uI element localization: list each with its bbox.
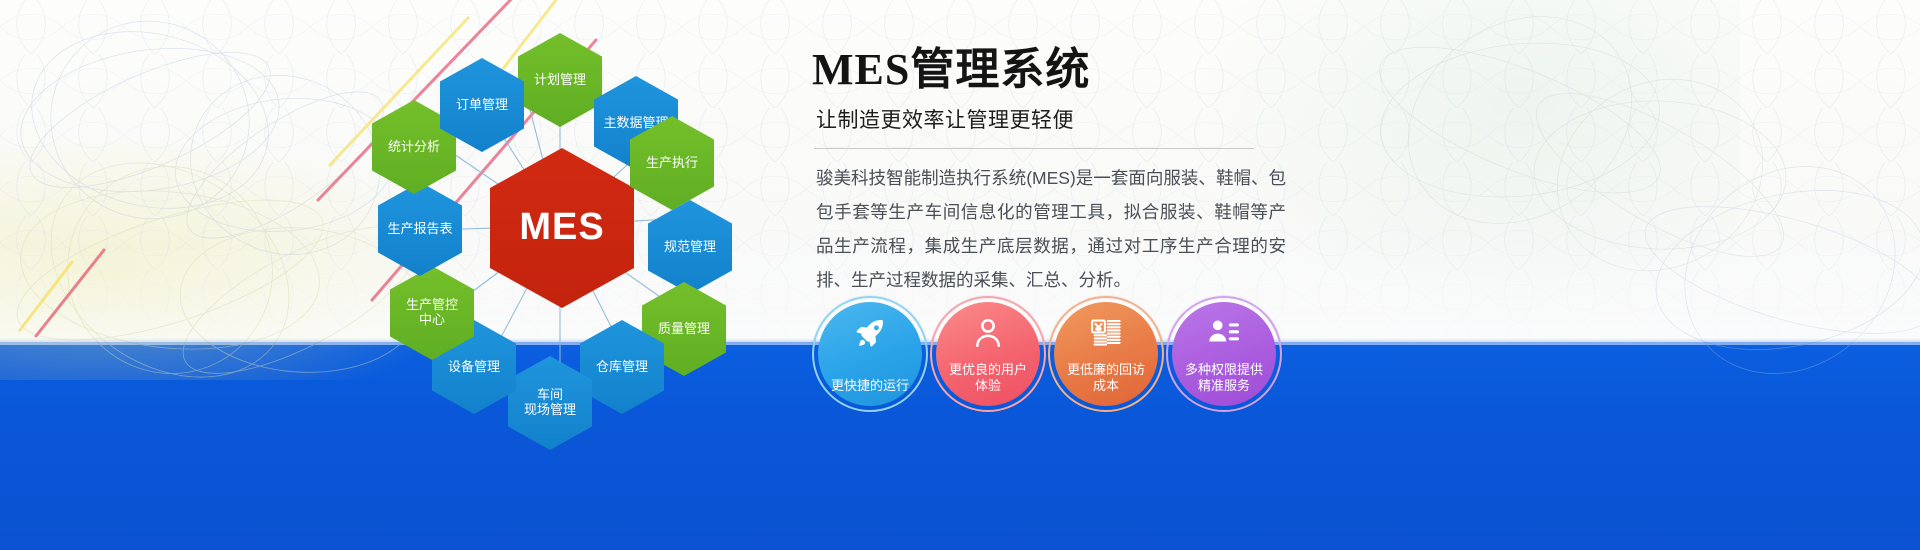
hex-node-11-label: 订单管理 [456,98,508,113]
promo-copy: MES管理系统 让制造更效率让管理更轻便 骏美科技智能制造执行系统(MES)是一… [812,48,1512,298]
feature-badge-3[interactable]: 多种权限提供 精准服务 [1172,302,1276,406]
hex-node-3-label: 规范管理 [664,240,716,255]
feature-badge-2[interactable]: 更低廉的回访 成本 [1054,302,1158,406]
page-subtitle: 让制造更效率让管理更轻便 [816,104,1512,134]
hex-node-10-label: 统计分析 [388,140,440,155]
hex-node-2-label: 生产执行 [646,156,698,171]
feature-badge-1[interactable]: 更优良的用户 体验 [936,302,1040,406]
description-paragraph: 骏美科技智能制造执行系统(MES)是一套面向服装、鞋帽、包包手套等生产车间信息化… [816,161,1286,298]
badge-ring-1 [930,296,1046,412]
hex-node-9-label: 生产报告表 [387,222,452,237]
hex-node-5-label: 仓库管理 [596,360,648,375]
user-list-icon [1172,316,1276,350]
hex-node-8-label: 生产管控 中心 [406,298,458,328]
badge-ring-3 [1166,296,1282,412]
page-title: MES管理系统 [812,48,1512,92]
feature-badge-3-label: 多种权限提供 精准服务 [1185,362,1263,395]
mes-promo-banner: MES 计划管理 主数据管理 生产执行 规范管理 质量管理 仓库管理 车间 现场… [0,0,1920,550]
mes-hex-diagram: MES 计划管理 主数据管理 生产执行 规范管理 质量管理 仓库管理 车间 现场… [330,18,790,438]
hex-node-4-label: 质量管理 [658,322,710,337]
money-stack-icon [1054,316,1158,350]
feature-badge-2-label: 更低廉的回访 成本 [1067,362,1145,395]
badge-ring-0 [812,296,928,412]
feature-badge-list: 更快捷的运行 更优良的用户 体验 更低廉的回访 成本 [818,302,1276,406]
badge-ring-2 [1048,296,1164,412]
title-divider [814,148,1254,149]
feature-badge-0[interactable]: 更快捷的运行 [818,302,922,406]
hex-node-7-label: 设备管理 [448,360,500,375]
hex-node-core-label: MES [519,206,604,250]
user-icon [936,316,1040,350]
hex-node-6-label: 车间 现场管理 [524,388,576,418]
feature-badge-0-label: 更快捷的运行 [831,378,909,394]
rocket-icon [818,316,922,350]
feature-badge-1-label: 更优良的用户 体验 [949,362,1027,395]
hex-node-0-label: 计划管理 [534,73,586,88]
